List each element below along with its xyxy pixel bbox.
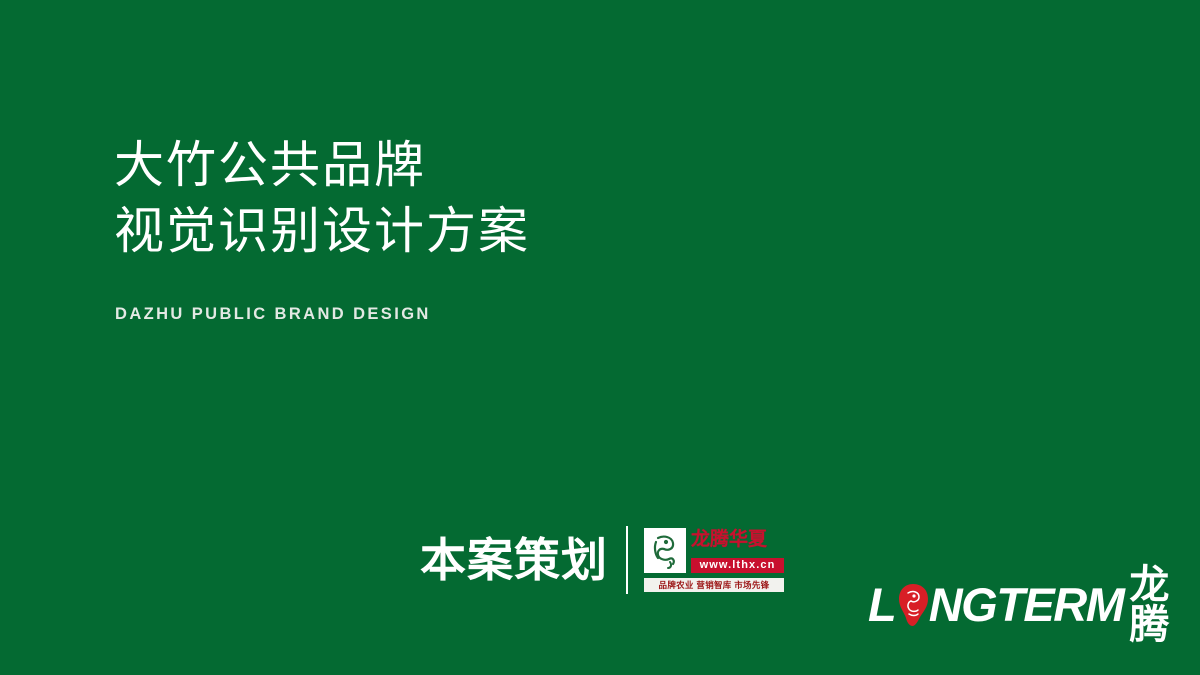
title-line-2: 视觉识别设计方案 — [114, 198, 814, 264]
red-dragon-icon — [896, 583, 930, 627]
dragon-seal-icon — [644, 528, 686, 573]
credit-row: 本案策划 — [420, 520, 784, 600]
agency-logo: 龙腾华夏 www.lthx.cn 品牌农业 营销智库 市场先锋 — [644, 528, 784, 592]
agency-name-cn: 龙腾华夏 — [691, 528, 784, 552]
longterm-brandmark: L NGTERM 龙腾 — [868, 578, 1200, 630]
title-line-1: 大竹公共品牌 — [114, 132, 814, 198]
agency-url: www.lthx.cn — [691, 558, 784, 573]
wordmark-lead-letter: L — [868, 581, 896, 628]
page-title: 大竹公共品牌 视觉识别设计方案 — [114, 132, 814, 264]
agency-logo-main: 龙腾华夏 www.lthx.cn — [644, 528, 784, 573]
credit-label: 本案策划 — [420, 537, 608, 583]
subtitle-english: DAZHU PUBLIC BRAND DESIGN — [115, 305, 431, 324]
slide-canvas: 大竹公共品牌 视觉识别设计方案 DAZHU PUBLIC BRAND DESIG… — [0, 0, 1200, 675]
wordmark-rest: NGTERM — [929, 581, 1124, 628]
agency-tagline: 品牌农业 营销智库 市场先锋 — [644, 578, 784, 592]
agency-logo-words: 龙腾华夏 www.lthx.cn — [686, 528, 784, 573]
credit-divider — [626, 526, 628, 594]
wordmark-cn: 龙腾 — [1129, 565, 1200, 645]
